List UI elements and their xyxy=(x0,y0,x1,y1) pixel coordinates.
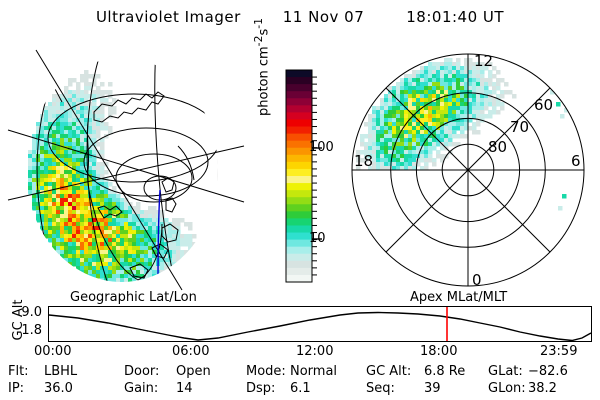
aurora-pixel xyxy=(112,210,117,215)
aurora-pixel xyxy=(64,246,69,251)
aurora-pixel xyxy=(144,262,149,267)
aurora-pixel xyxy=(420,130,425,135)
aurora-pixel xyxy=(48,238,53,243)
aurora-pixel xyxy=(84,266,89,271)
aurora-pixel xyxy=(44,194,49,199)
aurora-pixel xyxy=(84,234,89,239)
aurora-pixel xyxy=(68,210,73,215)
aurora-pixel xyxy=(104,262,109,267)
aurora-pixel xyxy=(168,226,173,231)
aurora-pixel xyxy=(488,74,493,79)
aurora-pixel xyxy=(44,106,49,111)
aurora-pixel xyxy=(72,98,77,103)
aurora-pixel xyxy=(452,82,457,87)
aurora-pixel xyxy=(56,250,61,255)
aurora-pixel xyxy=(56,178,61,183)
aurora-pixel xyxy=(120,206,125,211)
aurora-pixel xyxy=(60,190,65,195)
aurora-pixel xyxy=(32,158,37,163)
aurora-pixel xyxy=(384,110,389,115)
aurora-pixel xyxy=(188,246,193,251)
aurora-pixel xyxy=(132,222,137,227)
aurora-pixel xyxy=(96,274,101,279)
aurora-pixel xyxy=(108,198,113,203)
aurora-pixel xyxy=(400,162,405,167)
aurora-pixel xyxy=(168,242,173,247)
aurora-pixel xyxy=(64,174,69,179)
aurora-pixel xyxy=(120,230,125,235)
aurora-pixel xyxy=(104,198,109,203)
aurora-pixel xyxy=(376,134,381,139)
aurora-pixel xyxy=(100,278,105,283)
aurora-pixel xyxy=(484,78,489,83)
aurora-pixel xyxy=(36,150,41,155)
aurora-pixel xyxy=(76,166,81,171)
aurora-pixel xyxy=(48,166,53,171)
aurora-pixel xyxy=(56,202,61,207)
aurora-pixel xyxy=(504,90,509,95)
aurora-pixel xyxy=(432,90,437,95)
aurora-pixel xyxy=(180,218,185,223)
aurora-pixel xyxy=(120,234,125,239)
aurora-pixel xyxy=(80,242,85,247)
colorbar-band xyxy=(286,254,312,262)
orbit-xtick-label: 06:00 xyxy=(172,344,209,359)
aurora-pixel xyxy=(176,242,181,247)
aurora-pixel xyxy=(180,242,185,247)
aurora-pixel xyxy=(76,246,81,251)
aurora-pixel xyxy=(392,126,397,131)
aurora-pixel xyxy=(152,266,157,271)
aurora-pixel xyxy=(108,262,113,267)
colorbar-band xyxy=(286,261,312,269)
aurora-pixel xyxy=(368,118,373,123)
aurora-pixel xyxy=(72,258,77,263)
aurora-pixel xyxy=(488,98,493,103)
aurora-pixel xyxy=(120,274,125,279)
aurora-pixel xyxy=(132,254,137,259)
aurora-pixel xyxy=(484,106,489,111)
aurora-pixel xyxy=(132,250,137,255)
colorbar-band xyxy=(286,112,312,120)
aurora-pixel xyxy=(488,102,493,107)
aurora-pixel xyxy=(452,126,457,131)
aurora-pixel xyxy=(104,98,109,103)
aurora-pixel xyxy=(64,202,69,207)
aurora-pixel xyxy=(408,162,413,167)
colorbar-band xyxy=(286,197,312,205)
aurora-pixel xyxy=(60,122,65,127)
aurora-pixel xyxy=(428,154,433,159)
aurora-pixel xyxy=(96,130,101,135)
aurora-pixel xyxy=(92,90,97,95)
aurora-pixel xyxy=(40,182,45,187)
aurora-pixel xyxy=(144,278,149,283)
aurora-pixel xyxy=(84,202,89,207)
aurora-pixel xyxy=(72,90,77,95)
aurora-pixel xyxy=(448,78,453,83)
aurora-pixel xyxy=(88,238,93,243)
aurora-pixel xyxy=(448,110,453,115)
aurora-pixel xyxy=(452,122,457,127)
aurora-pixel xyxy=(124,274,129,279)
aurora-pixel xyxy=(80,270,85,275)
aurora-pixel xyxy=(432,142,437,147)
aurora-pixel xyxy=(100,122,105,127)
aurora-pixel xyxy=(384,94,389,99)
aurora-pixel xyxy=(68,170,73,175)
aurora-pixel xyxy=(136,206,141,211)
aurora-pixel xyxy=(440,102,445,107)
aurora-pixel xyxy=(456,110,461,115)
aurora-pixel xyxy=(416,102,421,107)
aurora-pixel xyxy=(416,134,421,139)
aurora-pixel xyxy=(184,250,189,255)
aurora-pixel xyxy=(92,170,97,175)
aurora-pixel xyxy=(40,186,45,191)
aurora-pixel xyxy=(40,198,45,203)
aurora-pixel xyxy=(504,82,509,87)
aurora-pixel xyxy=(424,90,429,95)
aurora-pixel xyxy=(140,234,145,239)
aurora-pixel xyxy=(562,194,567,199)
geographic-panel-title: Geographic Lat/Lon xyxy=(70,290,197,305)
aurora-pixel xyxy=(460,74,465,79)
aurora-pixel xyxy=(180,234,185,239)
aurora-pixel xyxy=(144,254,149,259)
aurora-pixel xyxy=(492,106,497,111)
aurora-pixel xyxy=(460,94,465,99)
aurora-pixel xyxy=(456,66,461,71)
aurora-pixel xyxy=(96,114,101,119)
aurora-pixel xyxy=(120,218,125,223)
aurora-pixel xyxy=(60,138,65,143)
aurora-pixel xyxy=(444,142,449,147)
aurora-pixel xyxy=(80,246,85,251)
aurora-pixel xyxy=(444,86,449,91)
aurora-pixel xyxy=(104,230,109,235)
aurora-pixel xyxy=(456,94,461,99)
aurora-pixel xyxy=(28,182,33,187)
aurora-pixel xyxy=(452,86,457,91)
mlt-label-0: 0 xyxy=(472,271,482,289)
aurora-pixel xyxy=(68,242,73,247)
aurora-pixel xyxy=(148,214,153,219)
aurora-pixel xyxy=(460,106,465,111)
aurora-pixel xyxy=(52,198,57,203)
aurora-pixel xyxy=(420,118,425,123)
aurora-pixel xyxy=(380,154,385,159)
aurora-pixel xyxy=(444,98,449,103)
colorbar-band xyxy=(286,105,312,113)
aurora-pixel xyxy=(392,162,397,167)
aurora-pixel xyxy=(68,246,73,251)
aurora-pixel xyxy=(56,198,61,203)
aurora-pixel xyxy=(476,130,481,135)
aurora-pixel xyxy=(92,166,97,171)
aurora-pixel xyxy=(64,198,69,203)
aurora-pixel xyxy=(396,90,401,95)
aurora-pixel xyxy=(128,246,133,251)
aurora-pixel xyxy=(84,70,89,75)
aurora-pixel xyxy=(52,222,57,227)
aurora-pixel xyxy=(172,242,177,247)
aurora-pixel xyxy=(44,226,49,231)
aurora-pixel xyxy=(460,134,465,139)
aurora-pixel xyxy=(408,142,413,147)
aurora-pixel xyxy=(40,174,45,179)
aurora-pixel xyxy=(52,166,57,171)
aurora-pixel xyxy=(488,78,493,83)
aurora-pixel xyxy=(36,218,41,223)
aurora-pixel xyxy=(424,162,429,167)
aurora-pixel xyxy=(152,206,157,211)
aurora-pixel xyxy=(92,198,97,203)
aurora-pixel xyxy=(60,194,65,199)
aurora-pixel xyxy=(396,82,401,87)
aurora-pixel xyxy=(76,98,81,103)
aurora-pixel xyxy=(372,110,377,115)
aurora-pixel xyxy=(124,278,129,283)
aurora-pixel xyxy=(72,174,77,179)
aurora-pixel xyxy=(60,206,65,211)
aurora-pixel xyxy=(404,78,409,83)
aurora-pixel xyxy=(396,146,401,151)
aurora-pixel xyxy=(448,74,453,79)
aurora-pixel xyxy=(404,102,409,107)
aurora-pixel xyxy=(96,162,101,167)
aurora-pixel xyxy=(56,214,61,219)
aurora-pixel xyxy=(400,98,405,103)
aurora-pixel xyxy=(456,78,461,83)
aurora-pixel xyxy=(116,234,121,239)
aurora-pixel xyxy=(136,266,141,271)
aurora-pixel xyxy=(40,162,45,167)
aurora-pixel xyxy=(108,110,113,115)
aurora-pixel xyxy=(456,74,461,79)
colorbar-band xyxy=(286,190,312,198)
aurora-pixel xyxy=(496,86,501,91)
aurora-pixel xyxy=(448,70,453,75)
aurora-pixel xyxy=(428,82,433,87)
aurora-pixel xyxy=(64,206,69,211)
aurora-pixel xyxy=(424,86,429,91)
colorbar-band xyxy=(286,218,312,226)
aurora-pixel xyxy=(116,266,121,271)
aurora-pixel xyxy=(76,186,81,191)
aurora-pixel xyxy=(76,238,81,243)
aurora-pixel xyxy=(100,254,105,259)
aurora-pixel xyxy=(84,102,89,107)
aurora-pixel xyxy=(88,258,93,263)
aurora-pixel xyxy=(172,218,177,223)
aurora-pixel xyxy=(92,194,97,199)
aurora-pixel xyxy=(428,142,433,147)
aurora-pixel xyxy=(76,110,81,115)
aurora-pixel xyxy=(556,102,561,107)
apex-polar-panel[interactable]: 12 18 6 0 60 70 80 xyxy=(344,42,594,292)
aurora-pixel xyxy=(92,162,97,167)
aurora-pixel xyxy=(452,102,457,107)
aurora-pixel xyxy=(448,90,453,95)
aurora-pixel xyxy=(96,214,101,219)
aurora-pixel xyxy=(388,138,393,143)
aurora-pixel xyxy=(432,74,437,79)
aurora-pixel xyxy=(404,110,409,115)
aurora-pixel xyxy=(416,142,421,147)
aurora-pixel xyxy=(468,126,473,131)
aurora-pixel xyxy=(120,258,125,263)
aurora-pixel xyxy=(440,118,445,123)
aurora-pixel xyxy=(92,258,97,263)
aurora-pixel xyxy=(72,206,77,211)
aurora-pixel xyxy=(44,146,49,151)
aurora-pixel xyxy=(68,238,73,243)
aurora-pixel xyxy=(492,74,497,79)
aurora-pixel xyxy=(120,270,125,275)
aurora-pixel xyxy=(80,234,85,239)
aurora-pixel xyxy=(44,126,49,131)
aurora-pixel xyxy=(68,250,73,255)
aurora-pixel xyxy=(68,226,73,231)
aurora-pixel xyxy=(188,238,193,243)
aurora-pixel xyxy=(480,110,485,115)
aurora-pixel xyxy=(448,134,453,139)
aurora-pixel xyxy=(384,162,389,167)
aurora-pixel xyxy=(428,110,433,115)
aurora-pixel xyxy=(56,138,61,143)
aurora-pixel xyxy=(472,114,477,119)
aurora-pixel xyxy=(372,130,377,135)
aurora-pixel xyxy=(56,222,61,227)
aurora-pixel xyxy=(404,130,409,135)
aurora-pixel xyxy=(388,102,393,107)
aurora-pixel xyxy=(468,58,473,63)
aurora-pixel xyxy=(472,82,477,87)
aurora-pixel xyxy=(52,174,57,179)
aurora-pixel xyxy=(80,174,85,179)
aurora-pixel xyxy=(108,242,113,247)
aurora-pixel xyxy=(48,114,53,119)
aurora-pixel xyxy=(164,230,169,235)
aurora-pixel xyxy=(152,210,157,215)
aurora-pixel xyxy=(408,98,413,103)
aurora-pixel xyxy=(40,142,45,147)
aurora-pixel xyxy=(380,118,385,123)
aurora-pixel xyxy=(96,110,101,115)
orbit-ytick-high: 9.0 xyxy=(8,305,42,320)
aurora-pixel xyxy=(80,142,85,147)
aurora-pixel xyxy=(56,162,61,167)
aurora-pixel xyxy=(364,122,369,127)
aurora-pixel xyxy=(104,126,109,131)
aurora-pixel xyxy=(408,86,413,91)
aurora-pixel xyxy=(420,98,425,103)
aurora-pixel xyxy=(480,106,485,111)
aurora-pixel xyxy=(60,254,65,259)
aurora-pixel xyxy=(420,110,425,115)
aurora-pixel xyxy=(32,174,37,179)
aurora-pixel xyxy=(60,202,65,207)
orbit-altitude-plot[interactable] xyxy=(48,306,592,342)
aurora-pixel xyxy=(92,130,97,135)
aurora-pixel xyxy=(404,82,409,87)
aurora-pixel xyxy=(172,258,177,263)
aurora-pixel xyxy=(68,214,73,219)
aurora-pixel xyxy=(184,234,189,239)
aurora-pixel xyxy=(112,110,117,115)
aurora-pixel xyxy=(456,102,461,107)
aurora-pixel xyxy=(116,278,121,283)
aurora-pixel xyxy=(144,250,149,255)
aurora-pixel xyxy=(64,126,69,131)
aurora-pixel xyxy=(96,202,101,207)
aurora-pixel xyxy=(476,114,481,119)
aurora-pixel xyxy=(440,74,445,79)
aurora-pixel xyxy=(104,122,109,127)
aurora-pixel xyxy=(84,222,89,227)
aurora-pixel xyxy=(44,182,49,187)
aurora-pixel xyxy=(72,190,77,195)
aurora-pixel xyxy=(132,218,137,223)
aurora-pixel xyxy=(76,154,81,159)
aurora-pixel xyxy=(424,78,429,83)
aurora-pixel xyxy=(452,62,457,67)
aurora-pixel xyxy=(56,206,61,211)
aurora-pixel xyxy=(412,146,417,151)
aurora-pixel xyxy=(116,230,121,235)
aurora-pixel xyxy=(160,250,165,255)
aurora-pixel xyxy=(380,126,385,131)
aurora-pixel xyxy=(456,62,461,67)
aurora-pixel xyxy=(420,134,425,139)
aurora-pixel xyxy=(92,158,97,163)
aurora-pixel xyxy=(404,154,409,159)
aurora-pixel xyxy=(440,66,445,71)
colorbar-band xyxy=(286,183,312,191)
aurora-pixel xyxy=(100,150,105,155)
aurora-pixel xyxy=(40,210,45,215)
aurora-pixel xyxy=(56,110,61,115)
aurora-pixel xyxy=(420,158,425,163)
aurora-pixel xyxy=(80,214,85,219)
aurora-pixel xyxy=(148,218,153,223)
aurora-pixel xyxy=(484,102,489,107)
aurora-pixel xyxy=(80,146,85,151)
aurora-pixel xyxy=(80,138,85,143)
aurora-pixel xyxy=(488,110,493,115)
status-label: Door: xyxy=(124,364,159,379)
aurora-pixel xyxy=(80,154,85,159)
aurora-pixel xyxy=(176,250,181,255)
aurora-pixel xyxy=(468,94,473,99)
aurora-pixel xyxy=(460,70,465,75)
colorbar-band xyxy=(286,155,312,163)
aurora-pixel xyxy=(124,218,129,223)
aurora-pixel xyxy=(440,82,445,87)
aurora-pixel xyxy=(112,230,117,235)
aurora-pixel xyxy=(448,106,453,111)
aurora-pixel xyxy=(476,102,481,107)
aurora-pixel xyxy=(396,110,401,115)
aurora-pixel xyxy=(76,218,81,223)
aurora-pixel xyxy=(412,154,417,159)
aurora-pixel xyxy=(420,138,425,143)
aurora-pixel xyxy=(144,238,149,243)
geographic-image-panel[interactable] xyxy=(6,42,248,292)
aurora-pixel xyxy=(88,170,93,175)
aurora-pixel xyxy=(100,90,105,95)
